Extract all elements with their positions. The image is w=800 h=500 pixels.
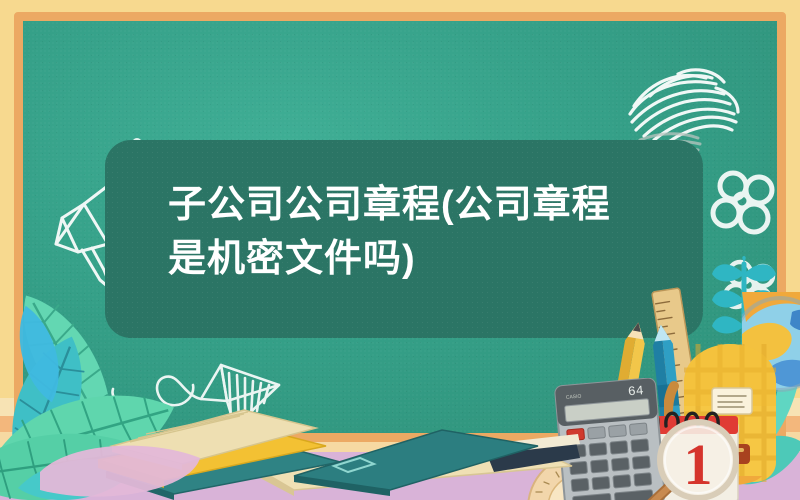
poster-title: 子公司公司章程(公司章程 是机密文件吗)	[168, 178, 688, 286]
poster-root: 子公司公司章程(公司章程 是机密文件吗)	[0, 0, 800, 500]
title-line-1: 子公司公司章程(公司章程	[168, 178, 688, 232]
decorative-blob	[40, 436, 210, 500]
calculator-display-text: 64	[627, 383, 644, 399]
leaf-icon	[4, 300, 74, 410]
magnifying-glass-icon: 1	[628, 412, 748, 500]
title-line-2: 是机密文件吗)	[168, 232, 688, 286]
magnifier-number-text: 1	[684, 432, 713, 497]
